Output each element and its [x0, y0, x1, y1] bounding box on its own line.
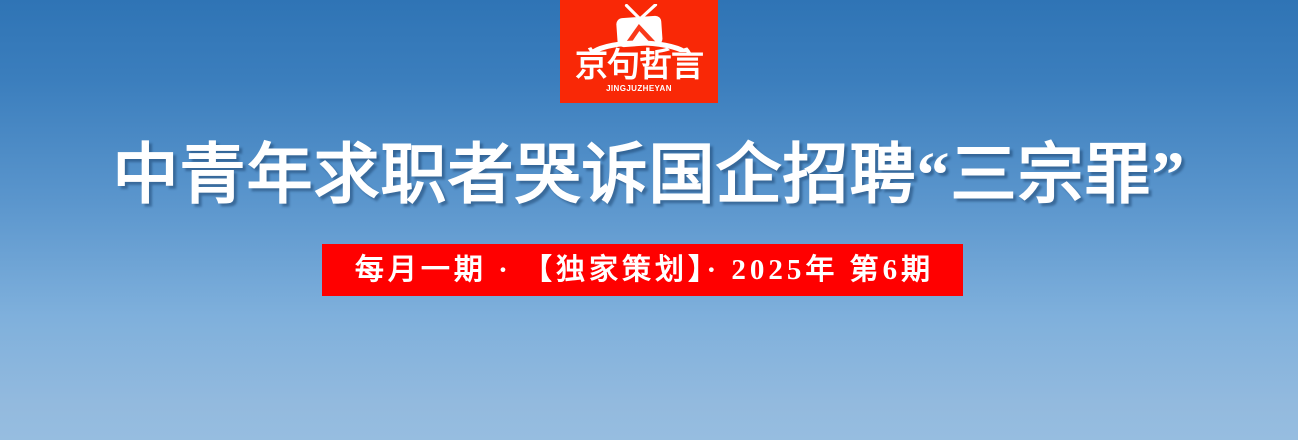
television-icon — [560, 4, 718, 52]
brand-logo-name: 京句哲言 — [560, 48, 718, 81]
issue-badge: 每月一期 · 【独家策划】· 2025年 第6期 — [322, 244, 963, 296]
article-cover-banner: 京句哲言 JINGJUZHEYAN 中青年求职者哭诉国企招聘“三宗罪” 每月一期… — [0, 0, 1298, 440]
brand-logo[interactable]: 京句哲言 JINGJUZHEYAN — [560, 0, 718, 103]
brand-logo-pinyin: JINGJUZHEYAN — [560, 84, 718, 93]
page-title: 中青年求职者哭诉国企招聘“三宗罪” — [0, 133, 1298, 219]
issue-badge-label: 每月一期 · 【独家策划】· 2025年 第6期 — [351, 254, 934, 286]
